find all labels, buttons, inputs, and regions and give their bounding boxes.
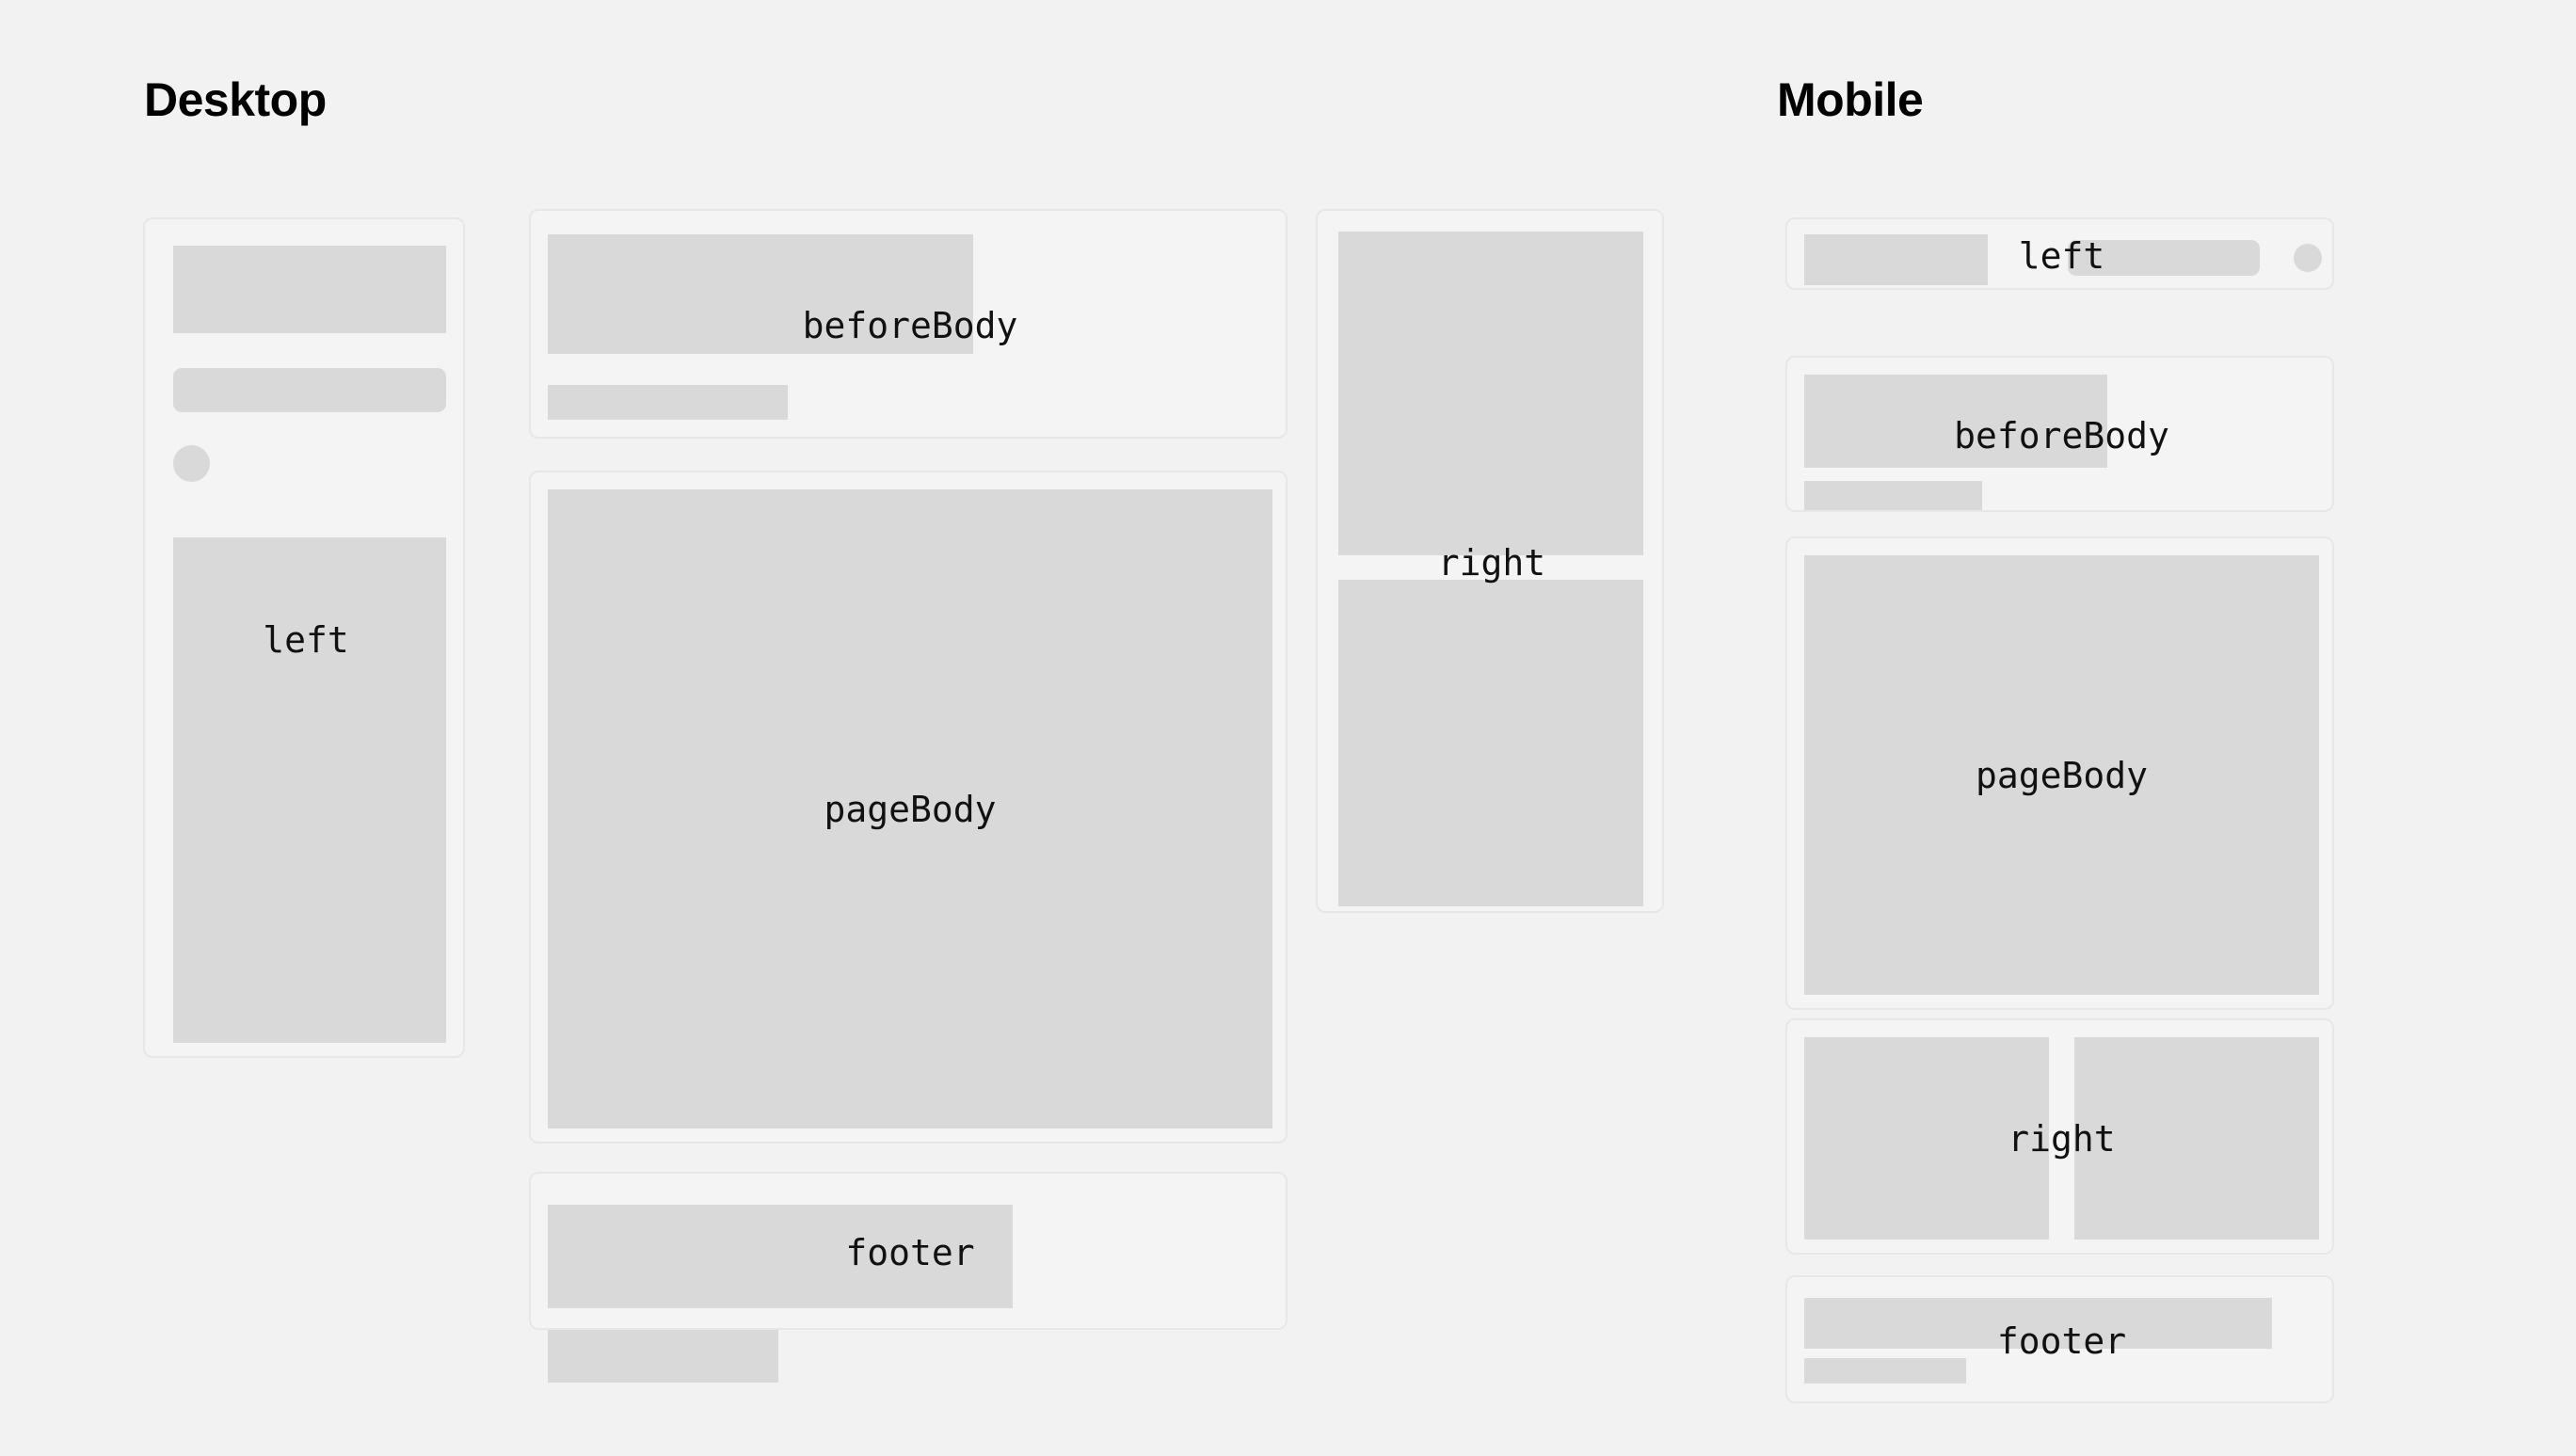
- placeholder-circle-icon: [173, 445, 210, 482]
- placeholder-pill: [173, 368, 446, 412]
- section-title-mobile: Mobile: [1777, 72, 1923, 127]
- placeholder-block: [1804, 1037, 2049, 1240]
- placeholder-block: [173, 537, 446, 1043]
- placeholder-block: [1338, 580, 1643, 906]
- placeholder-block: [548, 234, 973, 354]
- mobile-right-region[interactable]: right: [1785, 1018, 2334, 1255]
- desktop-right-region[interactable]: right: [1316, 209, 1664, 913]
- placeholder-block: [548, 489, 1272, 1128]
- placeholder-block: [1804, 1358, 1966, 1384]
- placeholder-block: [1804, 234, 1988, 285]
- placeholder-block: [2074, 1037, 2319, 1240]
- placeholder-block: [548, 1330, 778, 1383]
- placeholder-block: [548, 385, 788, 420]
- mobile-beforebody-region[interactable]: beforeBody: [1785, 356, 2334, 512]
- mobile-footer-region[interactable]: footer: [1785, 1275, 2334, 1403]
- section-title-desktop: Desktop: [144, 72, 327, 127]
- placeholder-block: [548, 1205, 1013, 1308]
- placeholder-block: [1804, 555, 2319, 995]
- placeholder-block: [1804, 481, 1982, 510]
- desktop-beforebody-region[interactable]: beforeBody: [529, 209, 1288, 439]
- placeholder-circle-icon: [2294, 244, 2322, 272]
- mobile-pagebody-region[interactable]: pageBody: [1785, 536, 2334, 1010]
- placeholder-block: [173, 246, 446, 333]
- placeholder-pill: [2068, 240, 2260, 276]
- desktop-footer-region[interactable]: footer: [529, 1172, 1288, 1330]
- mobile-left-region[interactable]: left: [1785, 217, 2334, 290]
- desktop-left-region[interactable]: left: [143, 217, 465, 1058]
- placeholder-block: [1804, 1298, 2272, 1349]
- desktop-pagebody-region[interactable]: pageBody: [529, 471, 1288, 1144]
- placeholder-block: [1804, 375, 2107, 468]
- placeholder-block: [1338, 232, 1643, 555]
